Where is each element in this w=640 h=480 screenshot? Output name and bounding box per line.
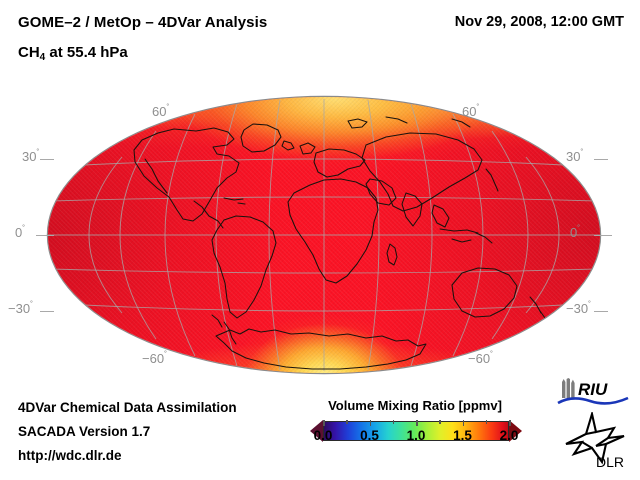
- dlr-wordmark: DLR: [596, 454, 624, 470]
- mollweide-globe: [48, 97, 600, 373]
- footer-line-version: SACADA Version 1.7: [18, 424, 237, 439]
- lat-label-60s-left: −60˚: [142, 350, 167, 366]
- colorbar-tick-label: 2.0: [500, 428, 519, 443]
- species-altitude: at 55.4 hPa: [45, 44, 128, 61]
- colorbar-tick-label: 1.5: [453, 428, 472, 443]
- page-subtitle: CH4 at 55.4 hPa: [18, 44, 128, 63]
- lat-label-0-right: 0˚: [570, 224, 580, 240]
- colorbar-tick-label: 0.0: [314, 428, 333, 443]
- footer-line-project: 4DVar Chemical Data Assimilation: [18, 400, 237, 415]
- lat-label-0-left: 0˚: [15, 224, 25, 240]
- page-title: GOME–2 / MetOp – 4DVar Analysis: [18, 14, 267, 31]
- timestamp: Nov 29, 2008, 12:00 GMT: [455, 14, 624, 30]
- colorbar-tick: [463, 420, 465, 426]
- lat-tick-0: [36, 235, 54, 236]
- species-label: CH: [18, 44, 40, 61]
- lat-tick-30n: [40, 159, 54, 160]
- colorbar-tick: [370, 420, 372, 426]
- colorbar-tick: [346, 420, 348, 424]
- lat-label-60s-right: −60˚: [468, 350, 493, 366]
- lat-tick-30s: [40, 311, 54, 312]
- footer-line-url[interactable]: http://wdc.dlr.de: [18, 448, 237, 463]
- lat-label-60n-right: 60˚: [462, 103, 479, 119]
- lat-label-60n-left: 60˚: [152, 103, 169, 119]
- colorbar-tick-label: 0.5: [360, 428, 379, 443]
- colorbar-tick: [486, 420, 488, 424]
- map-ellipse-clip: [48, 97, 600, 373]
- lat-tick-0-right: [594, 235, 612, 236]
- lat-label-30n-right: 30˚: [566, 148, 583, 164]
- colorbar-tick: [416, 420, 418, 426]
- colorbar-title: Volume Mixing Ratio [ppmv]: [310, 398, 520, 413]
- lat-label-30s-right: −30˚: [566, 300, 591, 316]
- colorbar-tick-label: 1.0: [407, 428, 426, 443]
- lat-tick-30s-right: [594, 311, 608, 312]
- footer-credits: 4DVar Chemical Data Assimilation SACADA …: [18, 400, 237, 472]
- colorbar-tick: [509, 420, 511, 426]
- colorbar-tick: [393, 420, 395, 424]
- lat-label-30s-left: −30˚: [8, 300, 33, 316]
- lat-label-30n-left: 30˚: [22, 148, 39, 164]
- colorbar-ticks: [323, 420, 509, 426]
- colorbar-tick-labels: 0.00.51.01.52.0: [323, 428, 509, 444]
- coastlines: [48, 97, 600, 373]
- riu-logo: RIU: [556, 378, 632, 408]
- dlr-logo: DLR: [562, 412, 634, 470]
- colorbar-tick: [439, 420, 441, 424]
- riu-wordmark: RIU: [578, 380, 608, 399]
- map-panel: 60˚ 30˚ 0˚ −30˚ −60˚ 60˚ 30˚ 0˚ −30˚ −60…: [0, 82, 640, 382]
- lat-tick-30n-right: [594, 159, 608, 160]
- colorbar-tick: [323, 420, 325, 426]
